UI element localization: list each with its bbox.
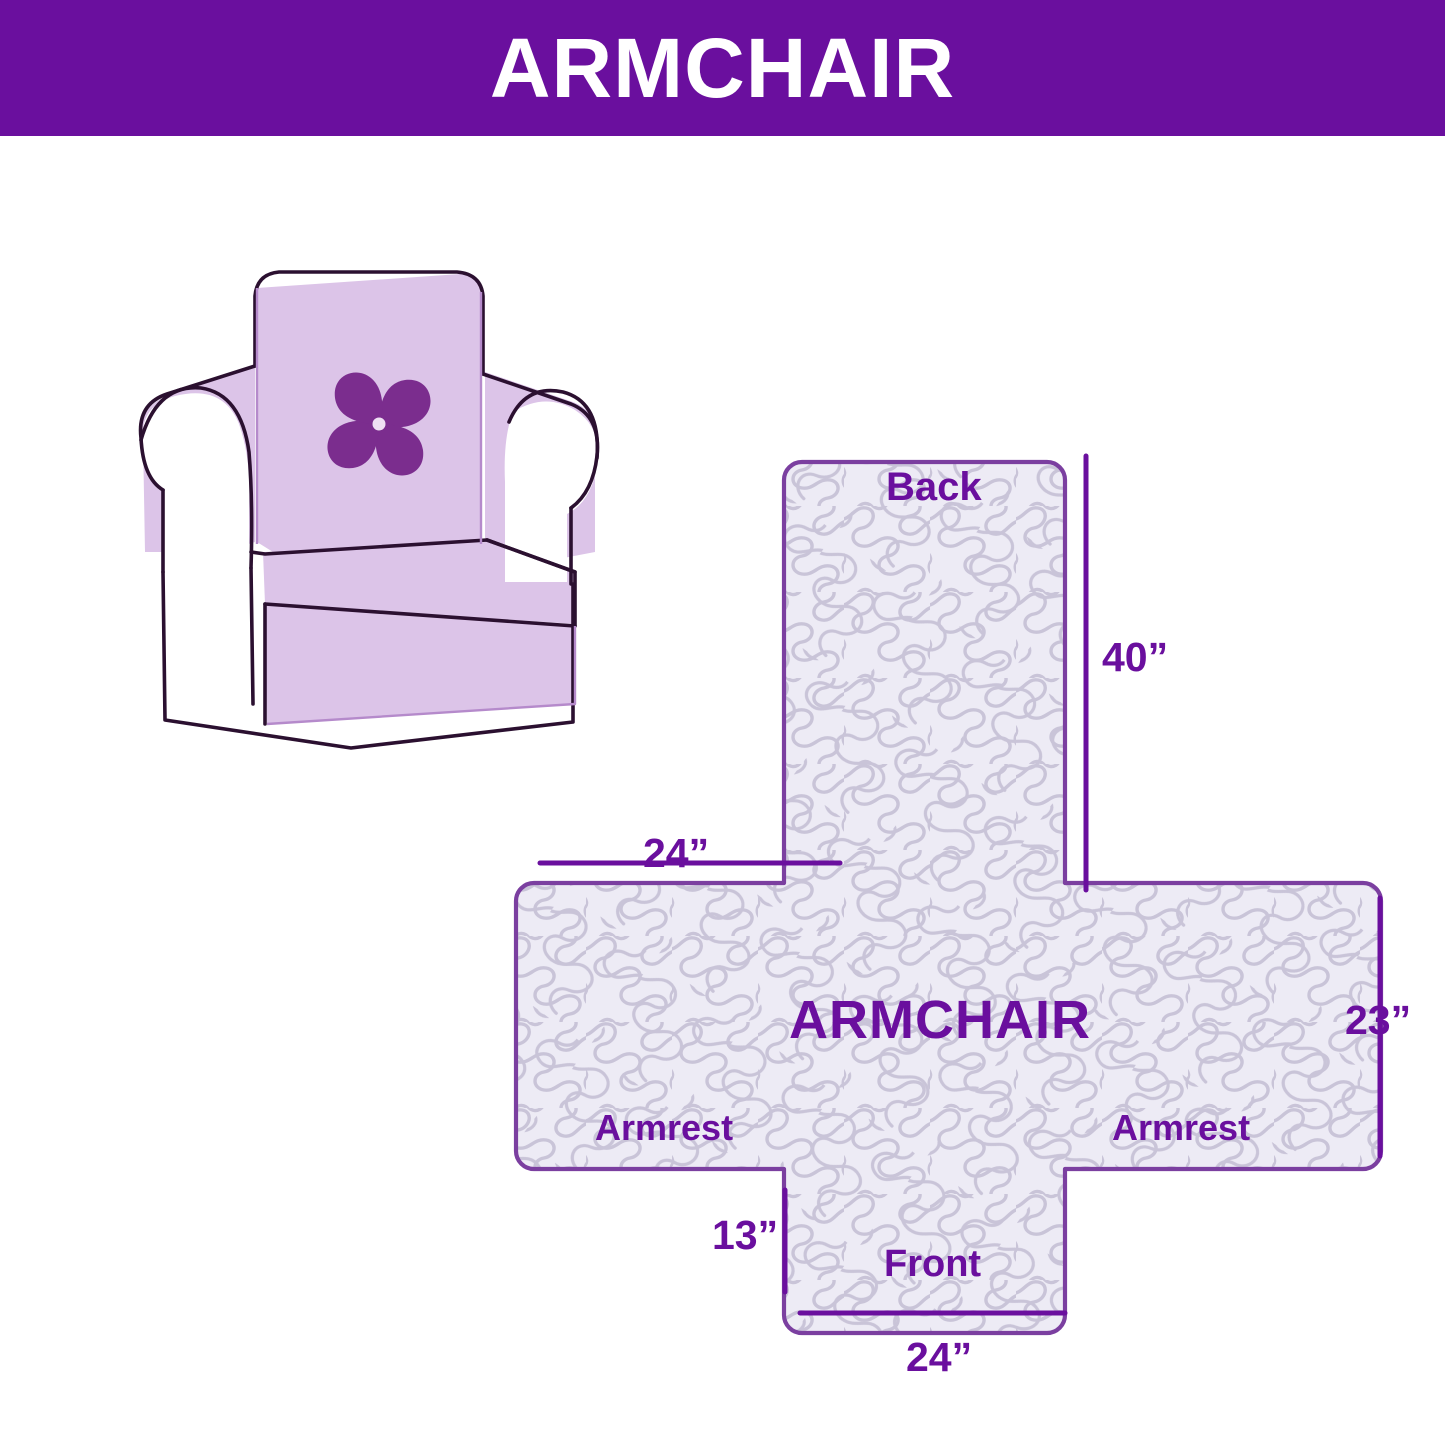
chair-skirt-inner	[251, 568, 253, 704]
dimension-armrest-width: 24”	[643, 833, 709, 874]
panel-label-front: Front	[884, 1245, 981, 1283]
page-root: ARMCHAIR	[0, 0, 1445, 1445]
dimension-front-drop: 13”	[712, 1215, 778, 1256]
dimension-back-height: 40”	[1102, 637, 1168, 678]
header-banner: ARMCHAIR	[0, 0, 1445, 136]
panel-label-armrest-left: Armrest	[595, 1110, 733, 1146]
dimension-front-width: 24”	[906, 1337, 972, 1378]
panel-label-back: Back	[886, 467, 982, 507]
diagram-center-label: ARMCHAIR	[789, 993, 1091, 1047]
page-title: ARMCHAIR	[490, 26, 955, 110]
dimension-seat-height: 23”	[1345, 1000, 1411, 1041]
panel-label-armrest-right: Armrest	[1112, 1110, 1250, 1146]
